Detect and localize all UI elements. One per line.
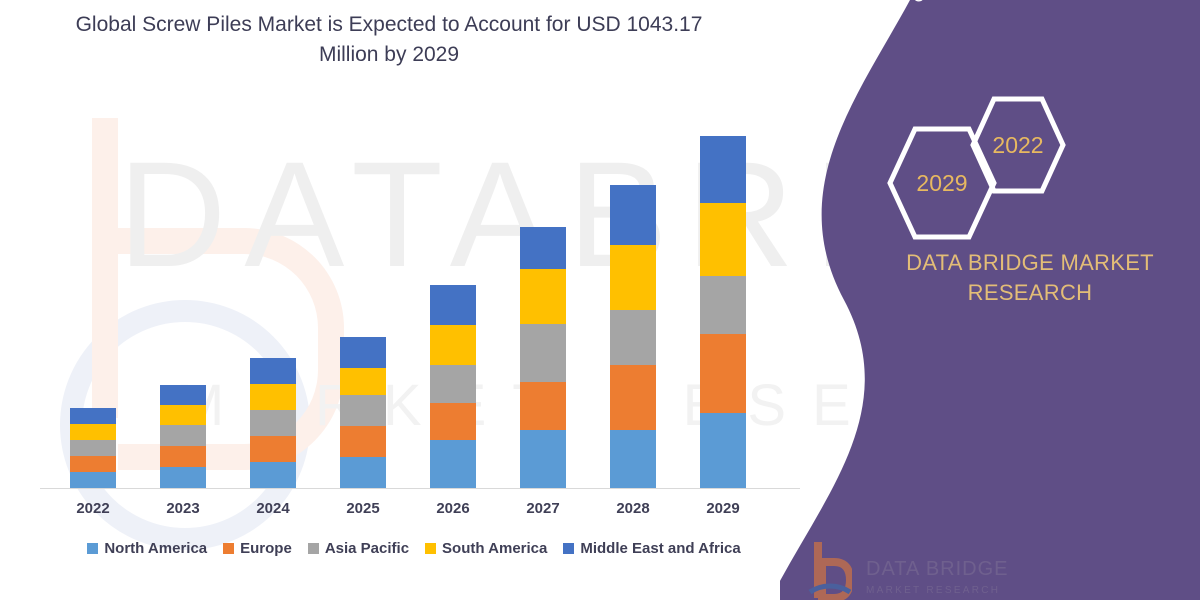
legend-item-south-america[interactable]: South America [425, 540, 547, 557]
bar-segment [340, 426, 386, 457]
legend-item-asia-pacific[interactable]: Asia Pacific [308, 540, 409, 557]
bar-segment [610, 245, 656, 310]
bar-segment [70, 472, 116, 488]
bar-2026 [430, 285, 476, 488]
x-axis-label-2029: 2029 [700, 500, 746, 517]
brand-side-panel: Regions, 2022 to 2029 2022 2029 DATA BRI… [780, 0, 1200, 600]
bar-segment [340, 368, 386, 395]
bar-segment [700, 413, 746, 488]
footer-logo-text: DATA BRIDGE [866, 558, 1009, 580]
x-axis-label-2023: 2023 [160, 500, 206, 517]
bar-segment [430, 403, 476, 440]
legend-item-europe[interactable]: Europe [223, 540, 292, 557]
bar-segment [340, 337, 386, 368]
brand-line-2: RESEARCH [860, 278, 1200, 308]
bar-segment [250, 358, 296, 384]
bar-segment [520, 382, 566, 430]
stacked-bar-chart: 20222023202420252026202720282029 North A… [0, 0, 820, 600]
legend-label: Europe [240, 540, 292, 557]
brand-line-1: DATA BRIDGE MARKET [860, 248, 1200, 278]
bar-2028 [610, 185, 656, 488]
legend-item-north-america[interactable]: North America [87, 540, 207, 557]
bar-segment [250, 410, 296, 436]
logo-b-icon [808, 540, 852, 600]
bar-2024 [250, 358, 296, 488]
bar-segment [520, 269, 566, 324]
bar-segment [610, 430, 656, 488]
legend-label: North America [104, 540, 207, 557]
bar-segment [160, 467, 206, 488]
chart-legend: North AmericaEuropeAsia PacificSouth Ame… [44, 540, 784, 557]
infographic-canvas: DATABRIDGE MARKET RESEARCH Global Screw … [0, 0, 1200, 600]
hex-badge-2029-label: 2029 [916, 170, 967, 197]
bar-2023 [160, 385, 206, 488]
bar-segment [520, 324, 566, 382]
bar-segment [70, 456, 116, 472]
bar-segment [610, 185, 656, 245]
legend-item-middle-east-and-africa[interactable]: Middle East and Africa [563, 540, 740, 557]
footer-logo-subtext: MARKET RESEARCH [866, 585, 1000, 596]
bar-segment [340, 457, 386, 488]
bar-segment [430, 285, 476, 325]
bar-segment [700, 203, 746, 276]
bar-segment [610, 310, 656, 365]
x-axis-label-2022: 2022 [70, 500, 116, 517]
bar-2025 [340, 337, 386, 488]
legend-swatch-icon [87, 543, 98, 554]
bar-segment [610, 365, 656, 430]
legend-label: Asia Pacific [325, 540, 409, 557]
hex-badges: 2022 2029 [886, 95, 1116, 240]
bar-segment [160, 446, 206, 467]
x-axis-line [40, 488, 800, 489]
legend-swatch-icon [425, 543, 436, 554]
bar-segment [520, 430, 566, 488]
hex-badge-2029: 2029 [886, 125, 998, 241]
x-axis-label-2026: 2026 [430, 500, 476, 517]
legend-swatch-icon [563, 543, 574, 554]
bar-segment [430, 440, 476, 488]
x-axis-label-2024: 2024 [250, 500, 296, 517]
bar-segment [700, 276, 746, 334]
bar-2027 [520, 227, 566, 488]
legend-label: Middle East and Africa [580, 540, 740, 557]
bar-segment [250, 436, 296, 462]
legend-swatch-icon [223, 543, 234, 554]
panel-heading: Regions, 2022 to 2029 [792, 0, 1192, 6]
bar-2022 [70, 408, 116, 488]
bar-segment [70, 408, 116, 424]
brand-name: DATA BRIDGE MARKET RESEARCH [780, 248, 1200, 308]
x-axis-label-2027: 2027 [520, 500, 566, 517]
footer-logo: DATA BRIDGE MARKET RESEARCH [808, 534, 1138, 600]
legend-swatch-icon [308, 543, 319, 554]
bar-segment [250, 462, 296, 488]
bar-segment [160, 405, 206, 425]
bar-segment [430, 325, 476, 365]
bar-segment [520, 227, 566, 269]
bar-segment [70, 424, 116, 440]
legend-label: South America [442, 540, 547, 557]
bar-segment [430, 365, 476, 403]
hex-badge-2022-label: 2022 [992, 132, 1043, 159]
bar-segment [70, 440, 116, 456]
bar-segment [340, 395, 386, 426]
bar-2029 [700, 136, 746, 488]
bar-segment [700, 136, 746, 203]
bar-segment [700, 334, 746, 413]
bar-segment [250, 384, 296, 410]
bar-segment [160, 425, 206, 446]
x-axis-label-2025: 2025 [340, 500, 386, 517]
bar-segment [160, 385, 206, 405]
x-axis-label-2028: 2028 [610, 500, 656, 517]
